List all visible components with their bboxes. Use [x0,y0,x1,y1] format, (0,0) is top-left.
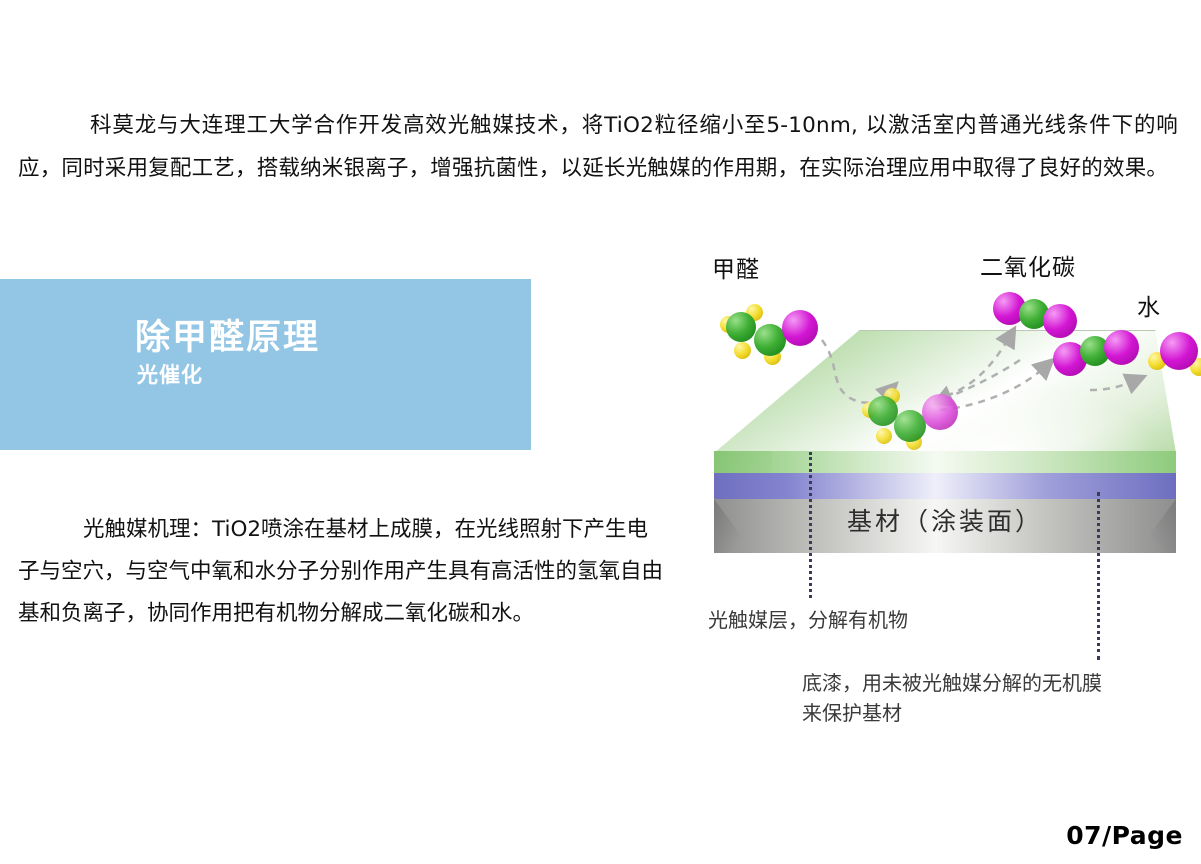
caption-photocatalyst-layer: 光触媒层，分解有机物 [708,605,908,635]
atom-oxygen [922,394,958,430]
title-banner: 除甲醛原理 光催化 [0,279,531,450]
atom-hydrogen [734,342,751,359]
banner-subtitle: 光催化 [137,359,203,389]
banner-title: 除甲醛原理 [135,309,320,360]
atom-oxygen [782,310,818,346]
atom-carbon [726,312,756,342]
leader-line-primer [1097,492,1100,660]
atom-oxygen [1160,332,1198,370]
molecule-water [1148,330,1201,382]
molecule-formaldehyde-incoming [718,302,838,374]
caption-primer-layer: 底漆，用未被光触媒分解的无机膜来保护基材 [802,668,1102,728]
photocatalysis-diagram: 甲醛 二氧化碳 水 基材（涂装面） [690,240,1201,760]
mechanism-paragraph: 光触媒机理：TiO2喷涂在基材上成膜，在光线照射下产生电子与空穴，与空气中氧和水… [18,509,663,635]
page-number: 07/Page [1066,821,1183,850]
molecule-carbon-dioxide-lower [1053,330,1155,380]
intro-paragraph: 科莫龙与大连理工大学合作开发高效光触媒技术，将TiO2粒径缩小至5-10nm, … [18,104,1178,190]
atom-carbon [894,410,926,442]
leader-line-photocatalyst [809,452,812,598]
molecule-formaldehyde-adsorbed [862,380,982,452]
atom-hydrogen [876,428,892,444]
atom-oxygen [1104,330,1139,365]
